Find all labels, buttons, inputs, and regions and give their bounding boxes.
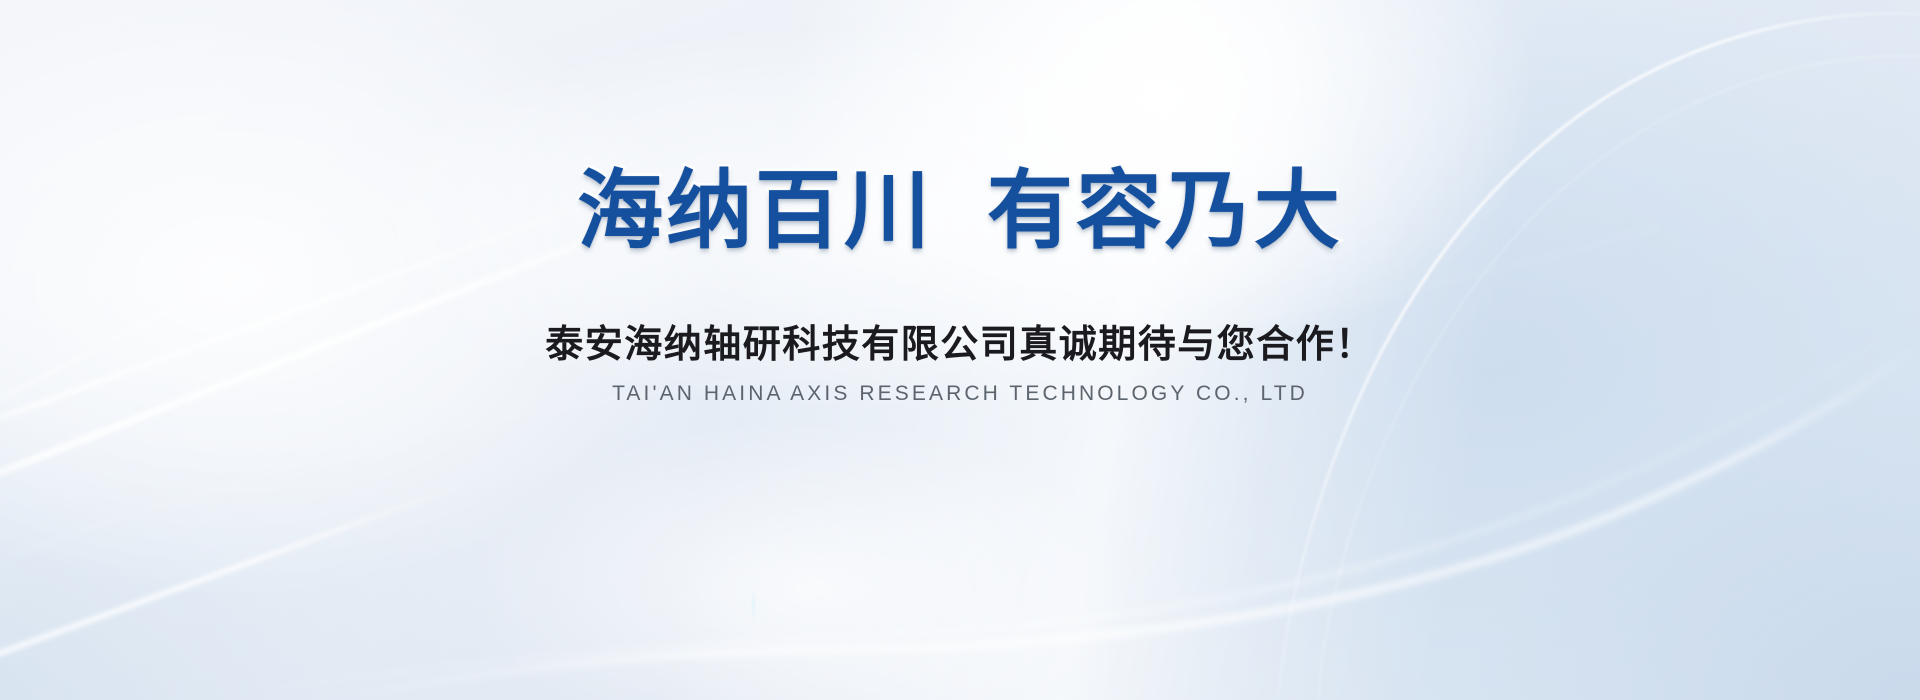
- hero-banner: 海纳百川 有容乃大 泰安海纳轴研科技有限公司真诚期待与您合作！ TAI'AN H…: [0, 0, 1920, 700]
- banner-content: 海纳百川 有容乃大 泰安海纳轴研科技有限公司真诚期待与您合作！ TAI'AN H…: [0, 0, 1920, 700]
- banner-subtitle-english: TAI'AN HAINA AXIS RESEARCH TECHNOLOGY CO…: [612, 383, 1308, 404]
- banner-headline: 海纳百川 有容乃大: [577, 168, 1343, 254]
- banner-subtitle-chinese: 泰安海纳轴研科技有限公司真诚期待与您合作！: [545, 326, 1375, 364]
